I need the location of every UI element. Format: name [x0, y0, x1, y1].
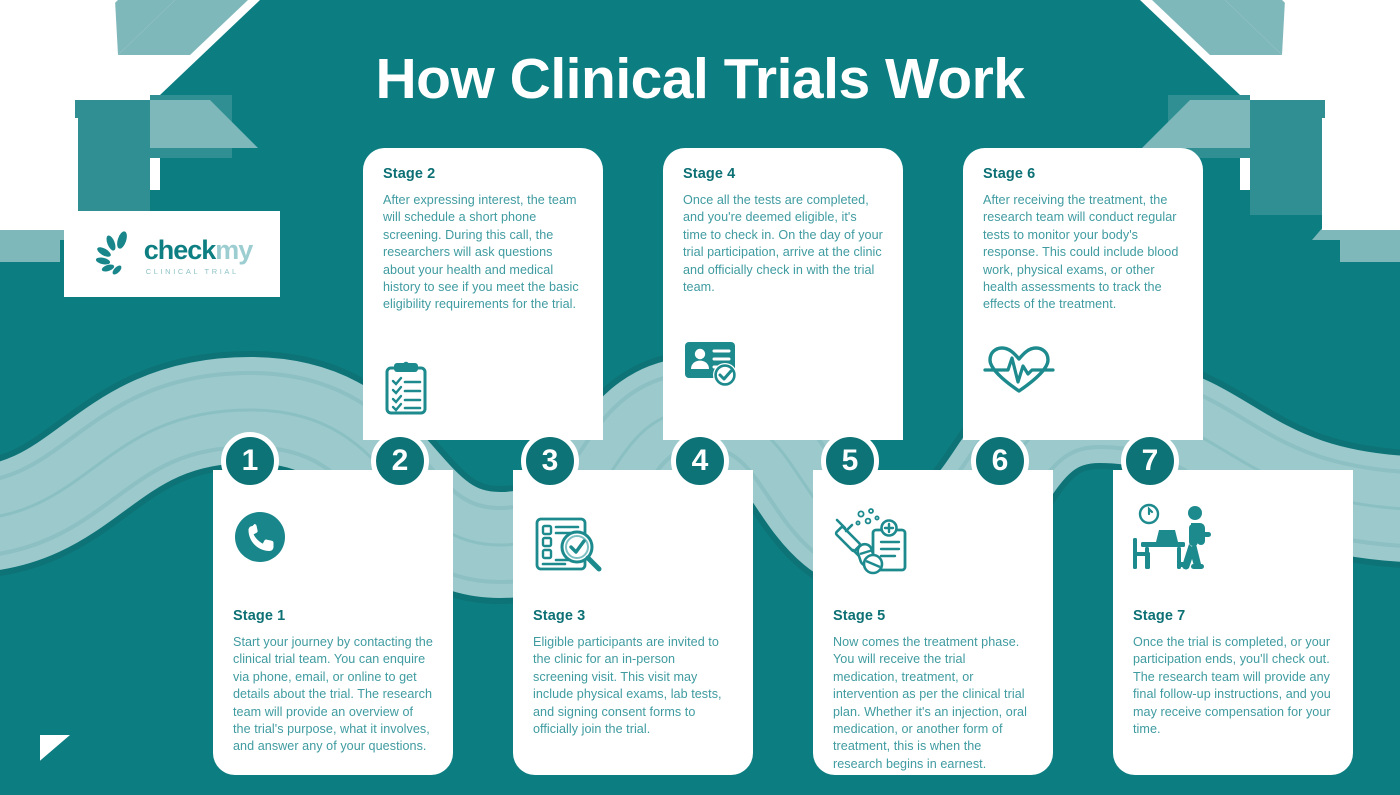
stage-card-1: Stage 1 Start your journey by contacting…	[213, 470, 453, 775]
page-title: How Clinical Trials Work	[0, 46, 1400, 112]
stage-body: After receiving the treatment, the resea…	[983, 192, 1183, 314]
stage-heading: Stage 2	[383, 166, 583, 182]
leaf-burst-icon	[92, 230, 140, 278]
stage-icon-wrap	[233, 510, 287, 564]
checkout-walking-person-icon	[1133, 502, 1213, 580]
stage-icon-wrap	[383, 360, 429, 416]
syringe-pills-clipboard-icon	[833, 506, 913, 578]
stage-number-7: 7	[1121, 432, 1179, 490]
logo-word-secondary: my	[215, 235, 252, 265]
stage-number-3: 3	[521, 432, 579, 490]
stage-number-4: 4	[671, 432, 729, 490]
stage-card-4: Stage 4 Once all the tests are completed…	[663, 148, 903, 440]
stage-card-7: Stage 7 Once the trial is completed, or …	[1113, 470, 1353, 775]
logo-wordmark: checkmy	[144, 237, 253, 264]
logo-subtitle: CLINICAL TRIAL	[146, 268, 253, 276]
stage-number-label: 7	[1142, 446, 1159, 476]
stage-card-5: Stage 5 Now comes the treatment phase. Y…	[813, 470, 1053, 775]
stage-number-5: 5	[821, 432, 879, 490]
brand-logo: checkmy CLINICAL TRIAL	[64, 211, 280, 297]
stage-body: Once the trial is completed, or your par…	[1133, 634, 1333, 738]
stage-icon-wrap	[983, 344, 1055, 396]
stage-icon-wrap	[533, 516, 607, 576]
stage-number-label: 5	[842, 446, 859, 476]
id-card-check-icon	[683, 338, 745, 390]
stage-number-6: 6	[971, 432, 1029, 490]
stage-body: Eligible participants are invited to the…	[533, 634, 733, 738]
stage-number-label: 4	[692, 446, 709, 476]
stage-card-2: Stage 2 After expressing interest, the t…	[363, 148, 603, 440]
stage-heading: Stage 4	[683, 166, 883, 182]
logo-word-primary: check	[144, 235, 216, 265]
stage-body: Now comes the treatment phase. You will …	[833, 634, 1033, 773]
document-magnifier-check-icon	[533, 516, 607, 576]
stage-heading: Stage 5	[833, 608, 1033, 624]
stage-number-label: 3	[542, 446, 559, 476]
heart-pulse-icon	[983, 344, 1055, 396]
stage-card-6: Stage 6 After receiving the treatment, t…	[963, 148, 1203, 440]
stage-icon-wrap	[1133, 502, 1213, 580]
stage-icon-wrap	[683, 338, 745, 390]
phone-circle-icon	[233, 510, 287, 564]
stage-body: Start your journey by contacting the cli…	[233, 634, 433, 756]
stage-body: After expressing interest, the team will…	[383, 192, 583, 314]
stage-number-2: 2	[371, 432, 429, 490]
stage-number-label: 2	[392, 446, 409, 476]
stage-card-3: Stage 3 Eligible participants are invite…	[513, 470, 753, 775]
stage-number-1: 1	[221, 432, 279, 490]
stage-heading: Stage 3	[533, 608, 733, 624]
stage-heading: Stage 7	[1133, 608, 1333, 624]
infographic-canvas: How Clinical Trials Work checkmy CLINICA…	[0, 0, 1400, 795]
stage-heading: Stage 6	[983, 166, 1183, 182]
stage-number-label: 1	[242, 446, 259, 476]
stage-icon-wrap	[833, 506, 913, 578]
stage-body: Once all the tests are completed, and yo…	[683, 192, 883, 296]
clipboard-checklist-icon	[383, 360, 429, 416]
stage-number-label: 6	[992, 446, 1009, 476]
stage-heading: Stage 1	[233, 608, 433, 624]
